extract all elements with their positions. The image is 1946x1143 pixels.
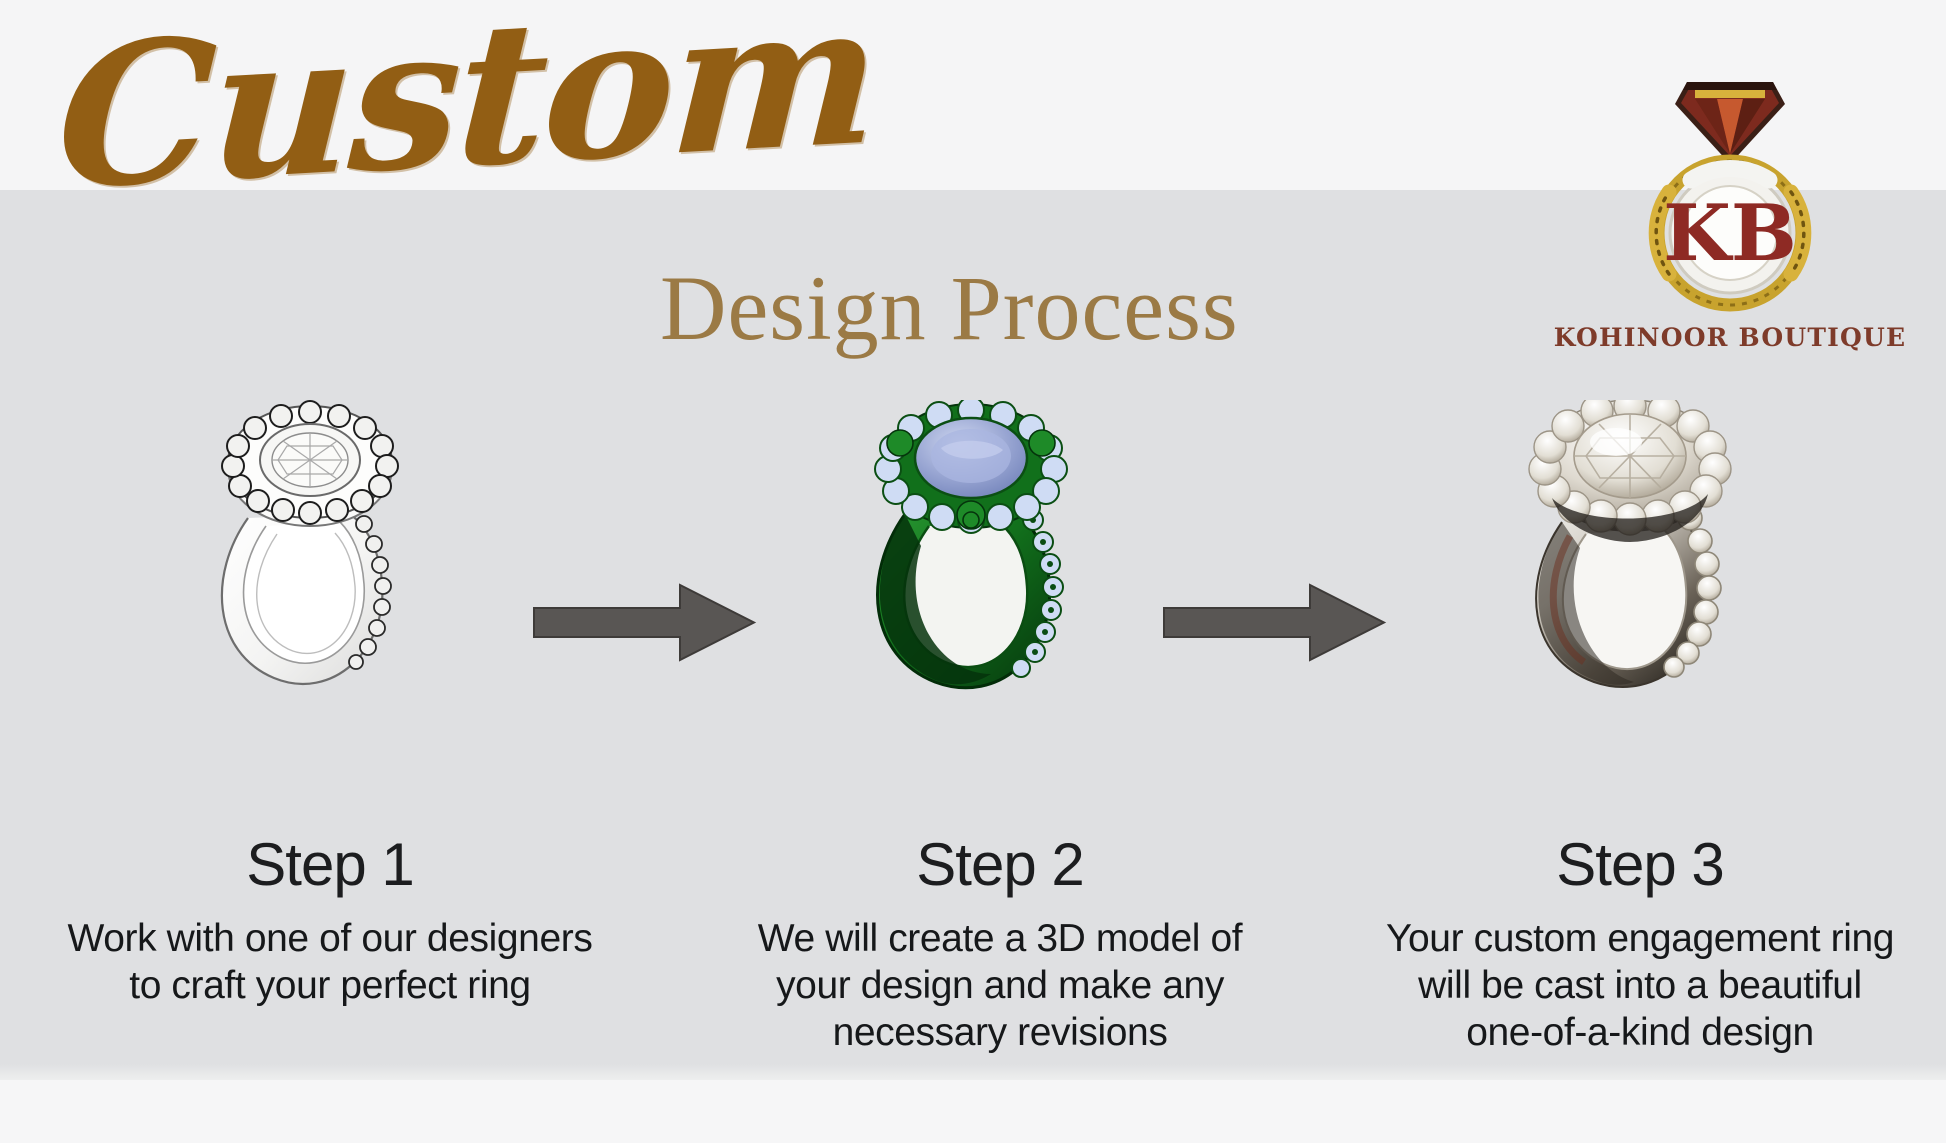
- step-1-line-2: to craft your perfect ring: [20, 962, 640, 1009]
- diamond-ring-icon: KB: [1625, 68, 1835, 318]
- ring-3d-model-image: [825, 400, 1155, 700]
- step-2-line-2: your design and make any: [690, 962, 1310, 1009]
- headline-design-process: Design Process: [660, 258, 1239, 358]
- headline-custom-script: Custom: [52, 0, 786, 242]
- step-3-line-1: Your custom engagement ring: [1330, 915, 1946, 962]
- arrow-right-icon: [530, 575, 760, 670]
- step-1-line-1: Work with one of our designers: [20, 915, 640, 962]
- ring-finished-photo-image: [1490, 400, 1820, 700]
- step-2-title: Step 2: [690, 830, 1310, 899]
- step-1-title: Step 1: [20, 830, 640, 899]
- process-steps-row: [0, 400, 1946, 700]
- background-band-bottom: [0, 1080, 1946, 1143]
- step-1-description: Work with one of our designers to craft …: [20, 915, 640, 1009]
- step-3-description: Your custom engagement ring will be cast…: [1330, 915, 1946, 1056]
- step-caption-1: Step 1 Work with one of our designers to…: [20, 830, 640, 1009]
- custom-design-process-banner: Custom Design Process: [0, 0, 1946, 1143]
- step-2-line-3: necessary revisions: [690, 1009, 1310, 1056]
- step-caption-3: Step 3 Your custom engagement ring will …: [1330, 830, 1946, 1056]
- brand-name-label: KOHINOOR BOUTIQUE: [1540, 323, 1920, 352]
- ring-cad-sketch-image: [170, 400, 500, 700]
- arrow-right-icon: [1160, 575, 1390, 670]
- arrow-step2-to-step3: [1160, 575, 1390, 670]
- step-caption-2: Step 2 We will create a 3D model of your…: [690, 830, 1310, 1056]
- arrow-step1-to-step2: [530, 575, 760, 670]
- step-3-title: Step 3: [1330, 830, 1946, 899]
- step-3-line-3: one-of-a-kind design: [1330, 1009, 1946, 1056]
- step-3-line-2: will be cast into a beautiful: [1330, 962, 1946, 1009]
- brand-logo: KB KOHINOOR BOUTIQUE: [1580, 68, 1880, 368]
- svg-text:KB: KB: [1663, 188, 1797, 279]
- step-2-description: We will create a 3D model of your design…: [690, 915, 1310, 1056]
- step-2-line-1: We will create a 3D model of: [690, 915, 1310, 962]
